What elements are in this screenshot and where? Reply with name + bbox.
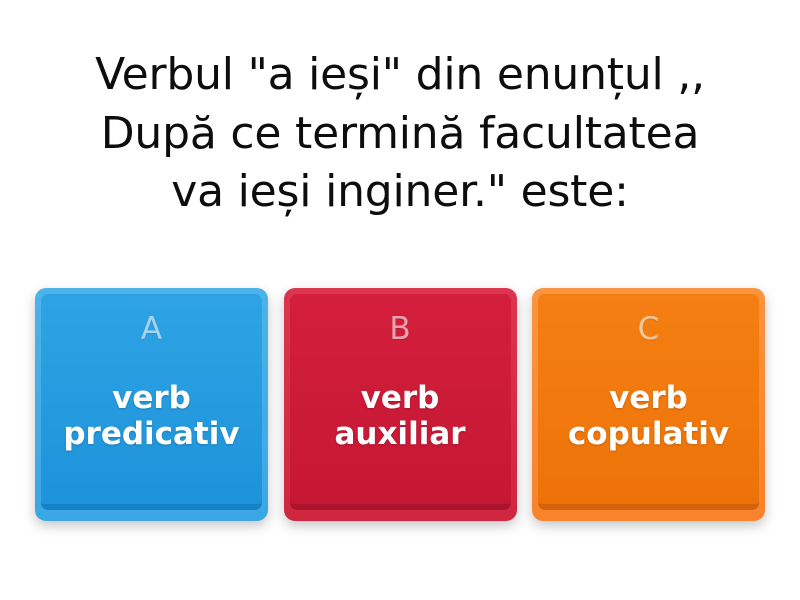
question-area: Verbul "a ieși" din enunțul ,, După ce t… xyxy=(20,46,780,222)
answer-option-c[interactable]: C verb copulativ xyxy=(532,288,765,521)
answer-option-c-label: verb copulativ xyxy=(538,345,759,504)
answer-option-a-face: A verb predicativ xyxy=(41,294,262,510)
answer-option-a[interactable]: A verb predicativ xyxy=(35,288,268,521)
answer-option-b[interactable]: B verb auxiliar xyxy=(284,288,517,521)
answer-option-c-letter: C xyxy=(638,314,660,345)
answer-option-a-letter: A xyxy=(141,314,162,345)
question-text: Verbul "a ieși" din enunțul ,, După ce t… xyxy=(20,46,780,222)
answer-option-a-label: verb predicativ xyxy=(41,345,262,504)
answer-option-b-letter: B xyxy=(389,314,410,345)
quiz-screen: Verbul "a ieși" din enunțul ,, După ce t… xyxy=(0,0,800,600)
answer-option-b-label: verb auxiliar xyxy=(290,345,511,504)
answer-option-b-face: B verb auxiliar xyxy=(290,294,511,510)
answer-options-row: A verb predicativ B verb auxiliar C verb… xyxy=(35,288,765,523)
answer-option-c-face: C verb copulativ xyxy=(538,294,759,510)
